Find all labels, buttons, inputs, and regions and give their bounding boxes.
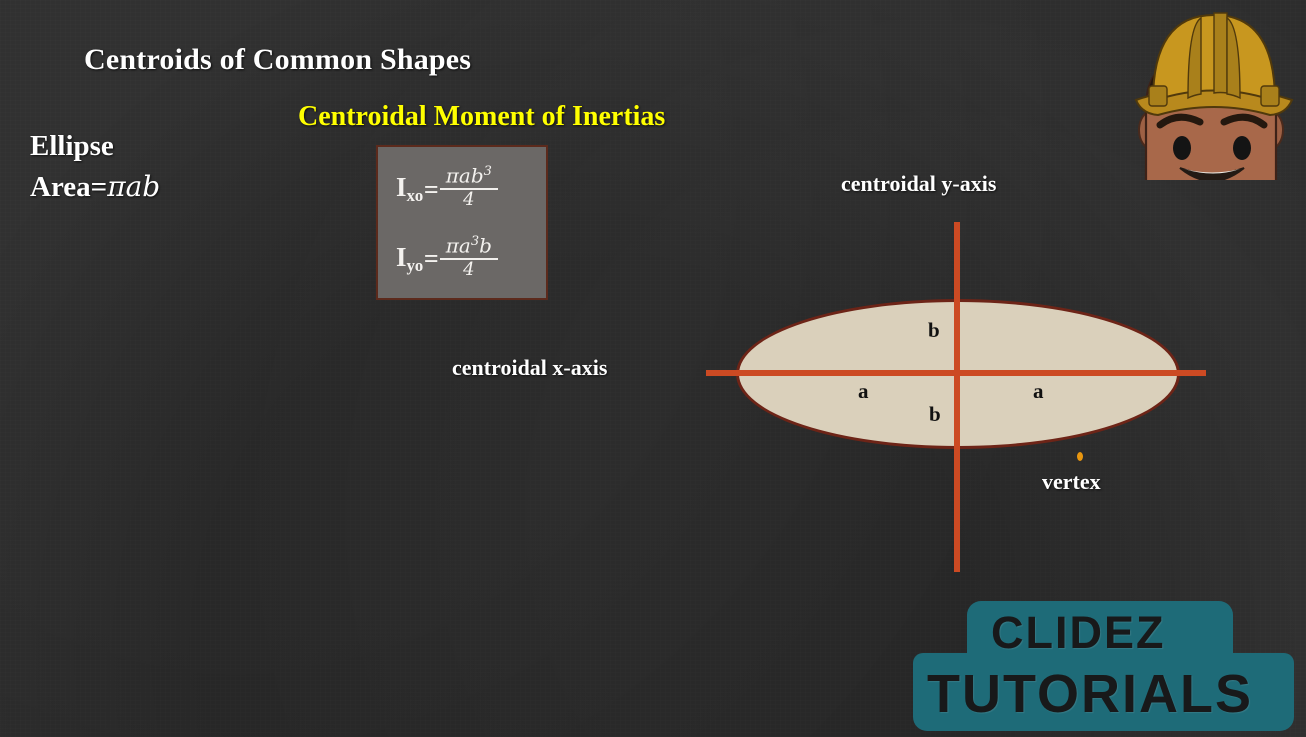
slide-canvas: Centroids of Common Shapes Centroidal Mo… xyxy=(0,0,1306,737)
formula-ixo-numerator-exponent: 3 xyxy=(484,164,492,179)
construction-worker-icon xyxy=(1122,2,1306,180)
centroidal-x-axis-caption: centroidal x-axis xyxy=(452,355,607,381)
formula-iyo: Iyo = πa3b 4 xyxy=(396,235,498,280)
vertex-label: vertex xyxy=(1042,465,1106,499)
formula-iyo-fraction: πa3b 4 xyxy=(440,235,498,280)
logo-text-tutorials: TUTORIALS xyxy=(927,663,1253,725)
dimension-label-b-bottom: b xyxy=(929,402,941,427)
clidez-tutorials-watermark: CLIDEZ TUTORIALS xyxy=(913,601,1306,737)
formula-ixo-subscript: xo xyxy=(407,187,423,204)
formula-iyo-equals: = xyxy=(423,244,440,274)
formula-iyo-numerator-suffix: b xyxy=(479,234,492,258)
centroidal-y-axis-caption: centroidal y-axis xyxy=(841,171,996,197)
area-expression: πab xyxy=(107,170,160,203)
area-label: Area= xyxy=(30,171,107,203)
formula-iyo-subscript: yo xyxy=(407,257,423,274)
formula-ixo: Ixo = πab3 4 xyxy=(396,165,498,210)
dimension-label-a-left: a xyxy=(858,379,869,404)
formula-iyo-symbol: Iyo xyxy=(396,244,423,271)
vertex-dot-icon xyxy=(1077,452,1083,461)
shape-area-formula: Area=πab xyxy=(30,170,160,204)
centroidal-y-axis-line xyxy=(954,222,960,572)
formula-ixo-numerator-base: πab xyxy=(446,164,484,188)
page-title: Centroids of Common Shapes xyxy=(84,43,471,77)
formula-ixo-numerator: πab3 xyxy=(440,165,498,188)
shape-name-label: Ellipse xyxy=(30,130,114,163)
formula-ixo-fraction: πab3 4 xyxy=(440,165,498,210)
formula-ixo-denominator: 4 xyxy=(463,190,474,210)
formula-iyo-numerator: πa3b xyxy=(440,235,498,258)
construction-worker-avatar xyxy=(1122,2,1306,180)
page-subtitle: Centroidal Moment of Inertias xyxy=(298,101,665,133)
logo-text-clidez: CLIDEZ xyxy=(991,607,1166,659)
moment-of-inertia-formula-box: Ixo = πab3 4 Iyo = πa3b 4 xyxy=(376,145,548,300)
dimension-label-b-top: b xyxy=(928,318,940,343)
formula-iyo-denominator: 4 xyxy=(463,260,474,280)
formula-iyo-symbol-letter: I xyxy=(396,244,407,271)
formula-iyo-numerator-prefix: πa xyxy=(446,234,471,258)
formula-ixo-symbol: Ixo xyxy=(396,174,423,201)
formula-ixo-equals: = xyxy=(423,175,440,205)
formula-iyo-numerator-exponent: 3 xyxy=(471,234,479,249)
dimension-label-a-right: a xyxy=(1033,379,1044,404)
formula-ixo-symbol-letter: I xyxy=(396,174,407,201)
